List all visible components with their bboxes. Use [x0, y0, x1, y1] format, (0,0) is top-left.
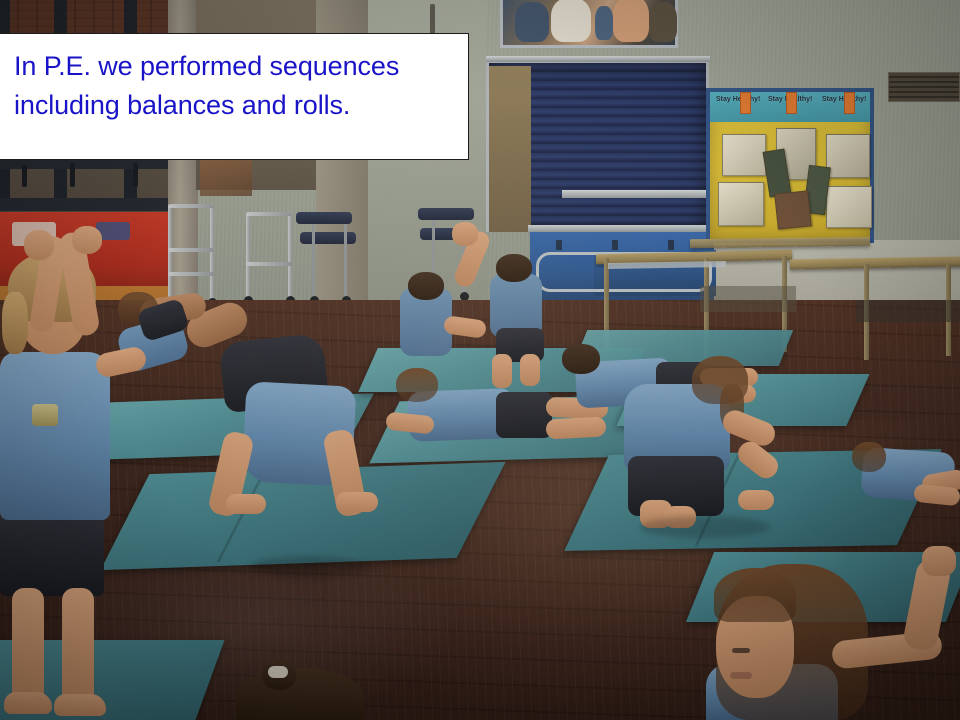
banner-flag-2 — [786, 92, 797, 114]
stacked-chair-3 — [418, 208, 474, 220]
pinned-work-1 — [722, 134, 766, 176]
slide-canvas: Stay Healthy! Stay Healthy! Stay Healthy… — [0, 0, 960, 720]
counter-fixing-1 — [556, 240, 562, 250]
shutter-rail — [562, 190, 710, 198]
table-shadow-right — [856, 300, 960, 322]
shadow-1 — [250, 556, 370, 578]
window-handle-1 — [22, 165, 27, 187]
table-underframe — [700, 286, 796, 312]
trolley-shelf-2 — [168, 272, 214, 276]
pinned-work-3 — [826, 134, 870, 178]
trolley-upright-3 — [246, 212, 250, 298]
pinned-work-8 — [774, 190, 812, 229]
caption-text: In P.E. we performed sequences including… — [14, 47, 454, 125]
pinned-work-5 — [826, 186, 872, 228]
shutter-side-panel — [489, 66, 531, 232]
chair-leg-1 — [312, 224, 315, 298]
caption-text-box: In P.E. we performed sequences including… — [0, 33, 469, 160]
mural-painting — [500, 0, 678, 48]
chair-leg-2 — [344, 224, 347, 298]
trolley-upright-2 — [210, 204, 214, 300]
banner-text-1: Stay Healthy! — [716, 96, 760, 104]
shutter-head — [486, 56, 710, 62]
trolley-shelf-3 — [246, 262, 292, 266]
shadow-2 — [640, 516, 770, 538]
trolley-handle-2 — [246, 212, 292, 216]
trolley-upright-4 — [288, 212, 292, 298]
banner-flag-3 — [844, 92, 855, 114]
window-handle-3 — [133, 163, 138, 187]
counter-fixing-3 — [668, 240, 674, 250]
trolley-upright-1 — [168, 204, 172, 300]
window-handle-2 — [70, 163, 75, 187]
trolley-handle-1 — [168, 204, 214, 208]
stacked-chair-1 — [296, 212, 352, 224]
window-transom — [0, 198, 168, 211]
counter-fixing-2 — [612, 240, 618, 250]
wall-vent-grille — [888, 72, 960, 102]
pinned-work-4 — [718, 182, 764, 226]
stacked-chair-2 — [300, 232, 356, 244]
trolley-shelf-1 — [168, 248, 214, 252]
banner-flag-1 — [740, 92, 751, 114]
